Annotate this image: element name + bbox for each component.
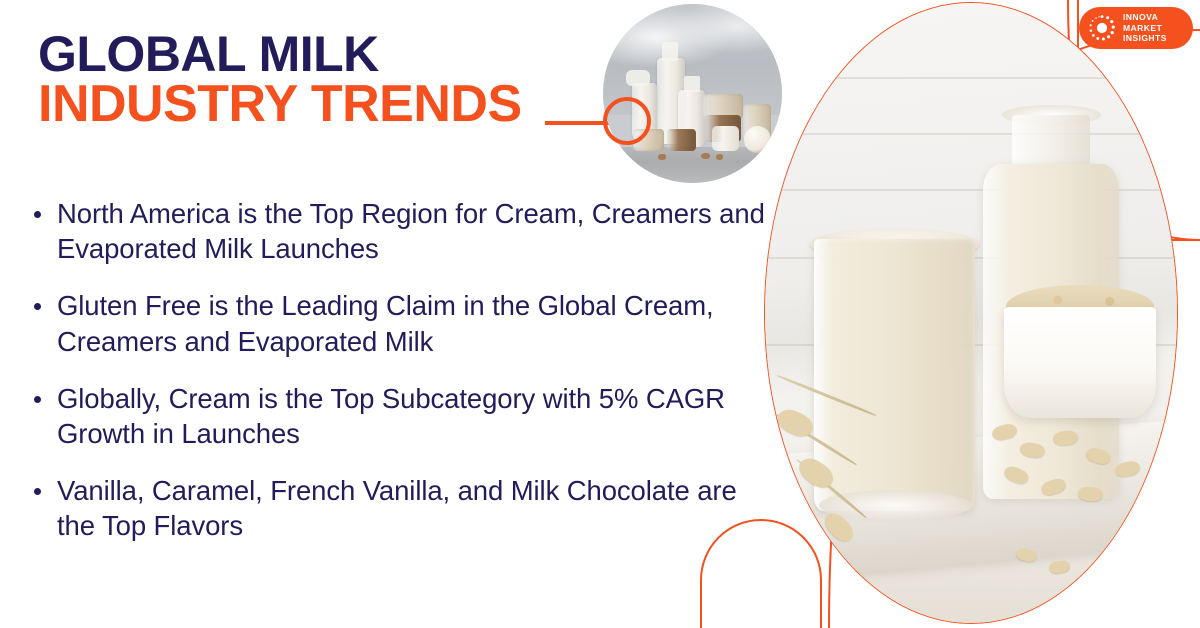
infographic-canvas: GLOBAL MILK INDUSTRY TRENDS <box>0 0 1200 628</box>
milk-bottle-tall-neck <box>662 42 678 62</box>
logo-line-2: MARKET <box>1123 23 1167 33</box>
loose-nut <box>701 153 710 159</box>
main-photo-frame <box>764 2 1178 624</box>
list-item: North America is the Top Region for Crea… <box>28 196 773 266</box>
list-item: Gluten Free is the Leading Claim in the … <box>28 288 773 358</box>
wood-grain-line <box>764 133 1178 135</box>
dotted-ring-icon <box>1087 13 1117 43</box>
milk-bottle-centre-neck <box>684 76 700 92</box>
logo-line-1: INNOVA <box>1123 12 1167 22</box>
loose-nut <box>716 154 723 159</box>
title-line-secondary: INDUSTRY TRENDS <box>38 79 598 130</box>
list-item-label: Gluten Free is the Leading Claim in the … <box>57 288 773 358</box>
logo-wordmark: INNOVA MARKET INSIGHTS <box>1123 12 1167 43</box>
seed-jar <box>667 129 696 150</box>
key-trends-list: North America is the Top Region for Crea… <box>28 196 773 544</box>
loose-nut <box>658 154 665 159</box>
white-oat-bowl <box>1004 307 1156 419</box>
list-item-label: Vanilla, Caramel, French Vanilla, and Mi… <box>57 473 773 543</box>
orange-ring-highlight <box>603 97 651 145</box>
sugar-jar <box>712 126 739 151</box>
title-line-primary: GLOBAL MILK <box>38 30 598 79</box>
milk-bottle-small-left-neck <box>626 70 649 86</box>
logo-line-3: INSIGHTS <box>1123 33 1167 43</box>
innova-market-insights-logo[interactable]: INNOVA MARKET INSIGHTS <box>1079 7 1193 49</box>
photo-counter-surface <box>603 147 782 183</box>
bullet-dot-icon <box>34 396 41 403</box>
bullet-dot-icon <box>34 488 41 495</box>
milk-bottles-and-jars-photo <box>603 4 782 183</box>
page-title: GLOBAL MILK INDUSTRY TRENDS <box>38 30 598 130</box>
oat-flake <box>1078 486 1104 502</box>
list-item-label: Globally, Cream is the Top Subcategory w… <box>57 381 773 451</box>
bullet-dot-icon <box>34 211 41 218</box>
list-item: Vanilla, Caramel, French Vanilla, and Mi… <box>28 473 773 543</box>
glass-of-milk <box>814 239 975 512</box>
glass-of-milk-with-oats-photo <box>764 2 1178 624</box>
list-item-label: North America is the Top Region for Crea… <box>57 196 773 266</box>
bullet-dot-icon <box>34 303 41 310</box>
list-item: Globally, Cream is the Top Subcategory w… <box>28 381 773 451</box>
